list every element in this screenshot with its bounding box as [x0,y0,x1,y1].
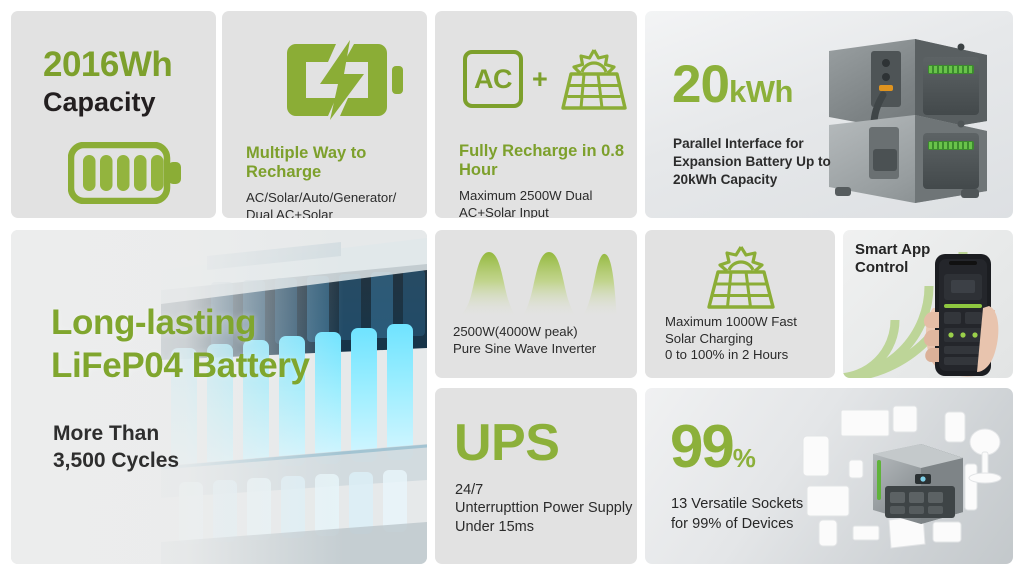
sockets-line1: 13 Versatile Sockets [671,494,871,514]
lifepo-heading-line1: Long-lasting [51,302,310,345]
ac-heading: Fully Recharge in 0.8 Hour [459,142,635,181]
inverter-line2: Pure Sine Wave Inverter [453,341,633,358]
card-lifepo4-battery: Long-lasting LiFeP04 Battery More Than 3… [11,230,427,564]
inverter-text-block: 2500W(4000W peak) Pure Sine Wave Inverte… [453,324,633,357]
capacity-value: 2016Wh [43,47,216,82]
card-ups: UPS 24/7 Unterrupttion Power Supply Unde… [435,388,637,564]
solar-panel-icon [703,244,779,310]
solar-line2: Solar Charging [665,331,833,348]
smart-app-title-line1: Smart App [855,241,930,259]
expansion-value-group: 20kWh [672,58,793,111]
solar-panel-icon [557,47,631,111]
solar-text-block: Maximum 1000W Fast Solar Charging 0 to 1… [665,314,833,364]
lifepo-sub: More Than 3,500 Cycles [53,421,179,475]
solar-line1: Maximum 1000W Fast [665,314,833,331]
ups-line2: Unterrupttion Power Supply [455,499,635,517]
recharge-heading: Multiple Way to Recharge [246,144,426,183]
battery-charging-icon [284,38,408,122]
smart-app-title: Smart App Control [855,241,930,278]
ac-body: Maximum 2500W Dual AC+Solar Input [459,188,635,218]
recharge-text-block: Multiple Way to Recharge AC/Solar/Auto/G… [246,144,426,218]
battery-full-icon [68,142,184,204]
expansion-desc: Parallel Interface for Expansion Battery… [673,135,873,189]
card-smart-app: Smart App Control [843,230,1013,378]
lifepo4-battery-cells-photo [11,230,427,564]
lifepo-sub-line1: More Than [53,421,179,448]
ups-value: UPS [454,417,559,469]
lifepo-sub-line2: 3,500 Cycles [53,448,179,475]
card-ac-recharge: AC + Fully Recharge in 0.8 Hour Maximum … [435,11,637,218]
sine-wave-icon [455,244,619,318]
lifepo-heading-line2: LiFeP04 Battery [51,345,310,388]
lifepo-heading: Long-lasting LiFeP04 Battery [51,302,310,387]
sockets-value-group: 99% [670,417,756,477]
card-recharge: Multiple Way to Recharge AC/Solar/Auto/G… [222,11,427,218]
smart-app-title-line2: Control [855,259,930,277]
sockets-value: 99 [670,413,733,480]
sockets-unit: % [733,443,756,473]
expansion-value: 20 [672,55,729,114]
card-solar-charging: Maximum 1000W Fast Solar Charging 0 to 1… [645,230,835,378]
expansion-unit: kWh [729,74,793,109]
sockets-line2: for 99% of Devices [671,514,871,534]
ac-text-block: Fully Recharge in 0.8 Hour Maximum 2500W… [459,142,635,218]
ups-line3: Under 15ms [455,518,635,536]
capacity-label: Capacity [43,87,216,117]
solar-line3: 0 to 100% in 2 Hours [665,347,833,364]
feature-grid: 2016Wh Capacity Multiple Way to Recharge… [0,0,1024,576]
card-inverter: 2500W(4000W peak) Pure Sine Wave Inverte… [435,230,637,378]
card-sockets: 99% 13 Versatile Sockets for 99% of Devi… [645,388,1013,564]
card-expansion-capacity: 20kWh Parallel Interface for Expansion B… [645,11,1013,218]
sockets-desc: 13 Versatile Sockets for 99% of Devices [671,494,871,534]
recharge-body: AC/Solar/Auto/Generator/ Dual AC+Solar [246,190,426,218]
ups-line1: 24/7 [455,481,635,499]
card-capacity: 2016Wh Capacity [11,11,216,218]
plus-sign: + [532,64,548,95]
ac-plus-solar-icons: AC + [463,47,631,111]
inverter-line1: 2500W(4000W peak) [453,324,633,341]
ac-icon: AC [463,50,523,108]
ups-text-block: 24/7 Unterrupttion Power Supply Under 15… [455,481,635,536]
